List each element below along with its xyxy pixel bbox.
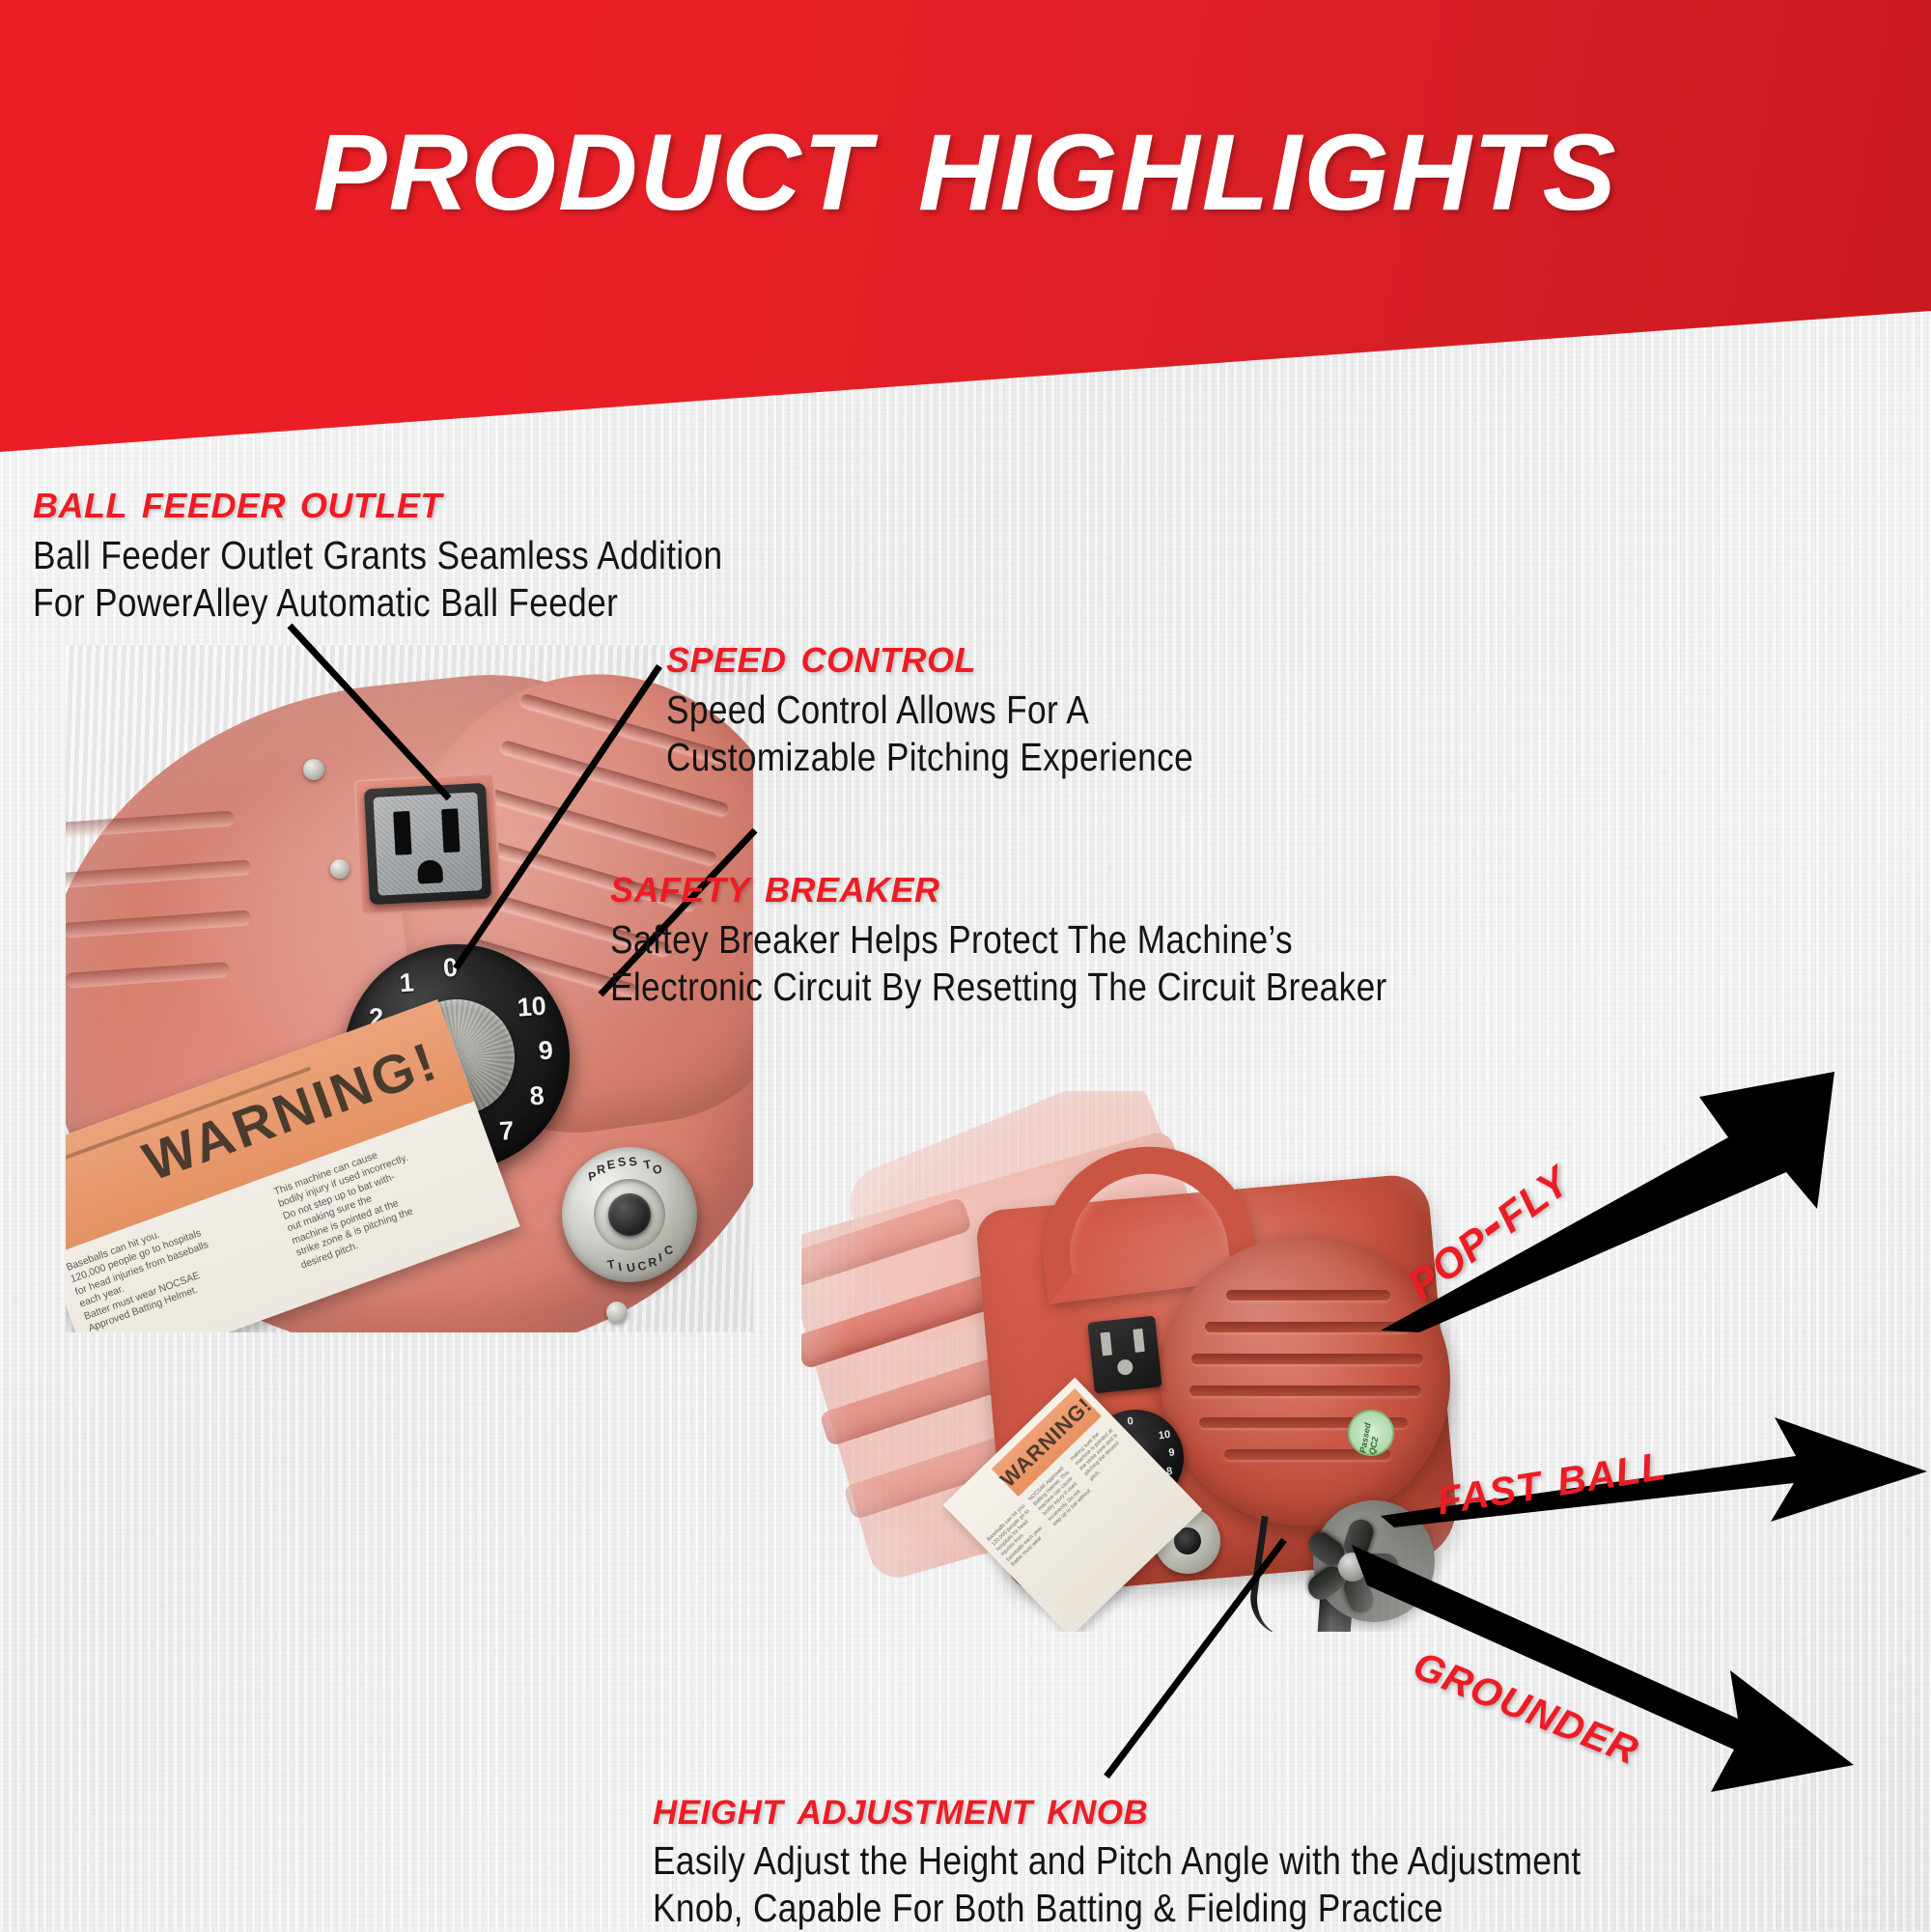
ball-feeder-outlet[interactable] xyxy=(364,783,491,905)
callout-ball-feeder-outlet: Ball Feeder Outlet Ball Feeder Outlet Gr… xyxy=(33,475,835,627)
outlet-slot-right xyxy=(441,808,460,853)
breaker-push-button[interactable] xyxy=(605,1190,655,1240)
speed-dial-number: 9 xyxy=(1165,1446,1179,1460)
callout-title-safety-breaker: Safety Breaker xyxy=(610,859,1514,912)
outlet-ground-pin xyxy=(417,859,443,883)
speed-dial-number: 8 xyxy=(522,1080,551,1112)
pitch-arrow-fast-ball: Fast Ball xyxy=(1381,1371,1931,1545)
speed-dial-number: 10 xyxy=(517,992,546,1023)
speed-dial-number: 7 xyxy=(492,1115,521,1147)
pop-fly-arrow-icon xyxy=(1381,1062,1921,1332)
pitch-arrow-grounder: Grounder xyxy=(1352,1526,1931,1806)
pitch-arrow-pop-fly: Pop-Fly xyxy=(1381,1062,1921,1332)
callout-body-safety-breaker: Saftey Breaker Helps Protect The Machine… xyxy=(610,916,1387,1011)
speed-dial-number: 0 xyxy=(1124,1415,1137,1429)
speed-dial-number: 10 xyxy=(1158,1429,1171,1442)
callout-body-speed-control: Speed Control Allows For A Customizable … xyxy=(666,686,1193,781)
callout-body-ball-feeder-outlet: Ball Feeder Outlet Grants Seamless Addit… xyxy=(33,532,722,627)
outlet-face xyxy=(373,792,482,896)
housing-screw xyxy=(330,859,350,879)
housing-screw xyxy=(606,1302,628,1323)
outlet-slot-left xyxy=(393,811,411,855)
speed-dial-number: 1 xyxy=(392,967,421,999)
ball-feeder-outlet-plate xyxy=(353,772,501,914)
breaker-label-char: T xyxy=(602,1256,620,1273)
callout-safety-breaker: Safety Breaker Saftey Breaker Helps Prot… xyxy=(610,859,1514,1011)
housing-fins xyxy=(66,807,291,1035)
housing-screw xyxy=(303,759,324,780)
callout-body-height-adjustment-knob: Easily Adjust the Height and Pitch Angle… xyxy=(653,1837,1581,1932)
callout-speed-control: Speed Control Speed Control Allows For A… xyxy=(666,630,1279,781)
speed-dial-number: 9 xyxy=(531,1035,560,1067)
callout-title-ball-feeder-outlet: Ball Feeder Outlet xyxy=(33,475,835,528)
breaker-label-char: O xyxy=(649,1162,666,1178)
callout-title-speed-control: Speed Control xyxy=(666,630,1279,683)
speed-dial-number: 0 xyxy=(436,952,465,984)
machine-ball-feeder-outlet[interactable] xyxy=(1087,1316,1161,1394)
page-title: Product Highlights xyxy=(0,0,1931,290)
